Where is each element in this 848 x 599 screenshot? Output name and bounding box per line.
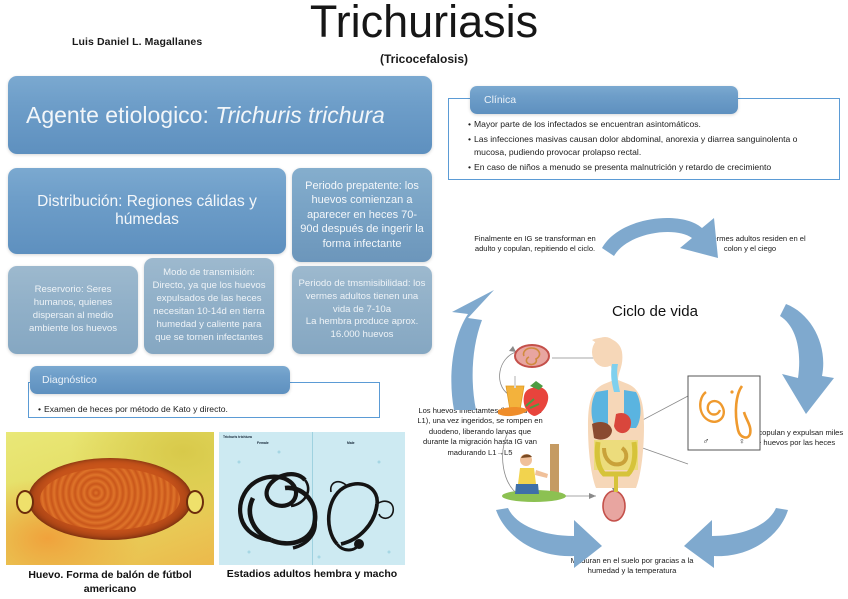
clinica-panel-header: Clínica <box>470 86 738 114</box>
agente-label: Agente etiologico: <box>26 102 215 128</box>
photo-egg-caption: Huevo. Forma de balón de fútbol american… <box>6 568 214 596</box>
bullet-icon: • <box>468 118 471 131</box>
box-reservorio-text: Reservorio: Seres humanos, quienes dispe… <box>14 284 132 335</box>
photo-trichuris-egg <box>6 432 214 565</box>
box-periodo-transmisibilidad-text: Periodo de tmsmisibilidad: los vermes ad… <box>297 278 427 342</box>
diagnostico-panel-header: Diagnóstico <box>30 366 290 394</box>
box-periodo-prepatente: Periodo prepatente: los huevos comienzan… <box>292 168 432 262</box>
clinica-header-label: Clínica <box>484 94 724 106</box>
person-and-tree <box>502 444 566 502</box>
photo-worms-caption: Estadios adultos hembra y macho <box>215 568 409 580</box>
agente-species: Trichuris trichura <box>215 102 385 128</box>
egg-contents <box>40 468 180 530</box>
box-reservorio: Reservorio: Seres humanos, quienes dispe… <box>8 266 138 354</box>
diagnostico-item-0: Examen de heces por método de Kato y dir… <box>44 404 228 414</box>
box-agente-etiologico: Agente etiologico: Trichuris trichura <box>8 76 432 154</box>
clinica-item-0: Mayor parte de los infectados se encuent… <box>474 118 701 131</box>
clinica-list: •Mayor parte de los infectados se encuen… <box>468 118 826 176</box>
food-items <box>498 376 548 416</box>
box-distribucion: Distribución: Regiones cálidas y húmedas <box>8 168 286 254</box>
male-symbol-icon: ♂ <box>703 436 710 446</box>
cycle-arrow-right <box>778 300 836 420</box>
female-symbol-icon: ♀ <box>739 436 746 446</box>
cycle-arrow-top <box>596 208 728 264</box>
cycle-label-top-left: Finalmente en IG se transforman en adult… <box>472 234 598 255</box>
cycle-title: Ciclo de vida <box>560 303 750 320</box>
adult-worms-inset: ♂ ♀ <box>688 376 760 450</box>
diagnostico-list: •Examen de heces por método de Kato y di… <box>38 404 368 416</box>
box-modo-transmision-text: Modo de transmisión: Directo, ya que los… <box>149 267 269 344</box>
list-item: •Mayor parte de los infectados se encuen… <box>468 118 826 131</box>
worm-specimens-drawing <box>219 432 405 565</box>
clinica-item-2: En caso de niños a menudo se presenta ma… <box>474 161 771 174</box>
clinica-item-1: Las infecciones masivas causan dolor abd… <box>474 133 826 159</box>
list-item: •En caso de niños a menudo se presenta m… <box>468 161 826 174</box>
box-periodo-prepatente-text: Periodo prepatente: los huevos comienzan… <box>299 179 425 252</box>
life-cycle-illustration: ♂ ♀ <box>492 336 762 536</box>
list-item: •Las infecciones masivas causan dolor ab… <box>468 133 826 159</box>
page-subtitle: (Tricocefalosis) <box>0 52 848 66</box>
egg-polar-plug-left <box>16 490 34 514</box>
human-body-diagram <box>588 337 644 492</box>
bullet-icon: • <box>38 404 41 414</box>
box-distribucion-text: Distribución: Regiones cálidas y húmedas <box>20 193 274 229</box>
diagnostico-header-label: Diagnóstico <box>42 374 278 386</box>
box-periodo-transmisibilidad: Periodo de tmsmisibilidad: los vermes ad… <box>292 266 432 354</box>
box-modo-transmision: Modo de transmisión: Directo, ya que los… <box>144 258 274 354</box>
photo-adult-worms: Trichuris trichiura Female Male <box>219 432 405 565</box>
infographic-page: Luis Daniel L. Magallanes Trichuriasis (… <box>0 0 848 599</box>
bullet-icon: • <box>468 133 471 159</box>
bullet-icon: • <box>468 161 471 174</box>
page-title: Trichuriasis <box>0 0 848 48</box>
list-item: •Examen de heces por método de Kato y di… <box>38 404 368 414</box>
egg-polar-plug-right <box>186 490 204 514</box>
